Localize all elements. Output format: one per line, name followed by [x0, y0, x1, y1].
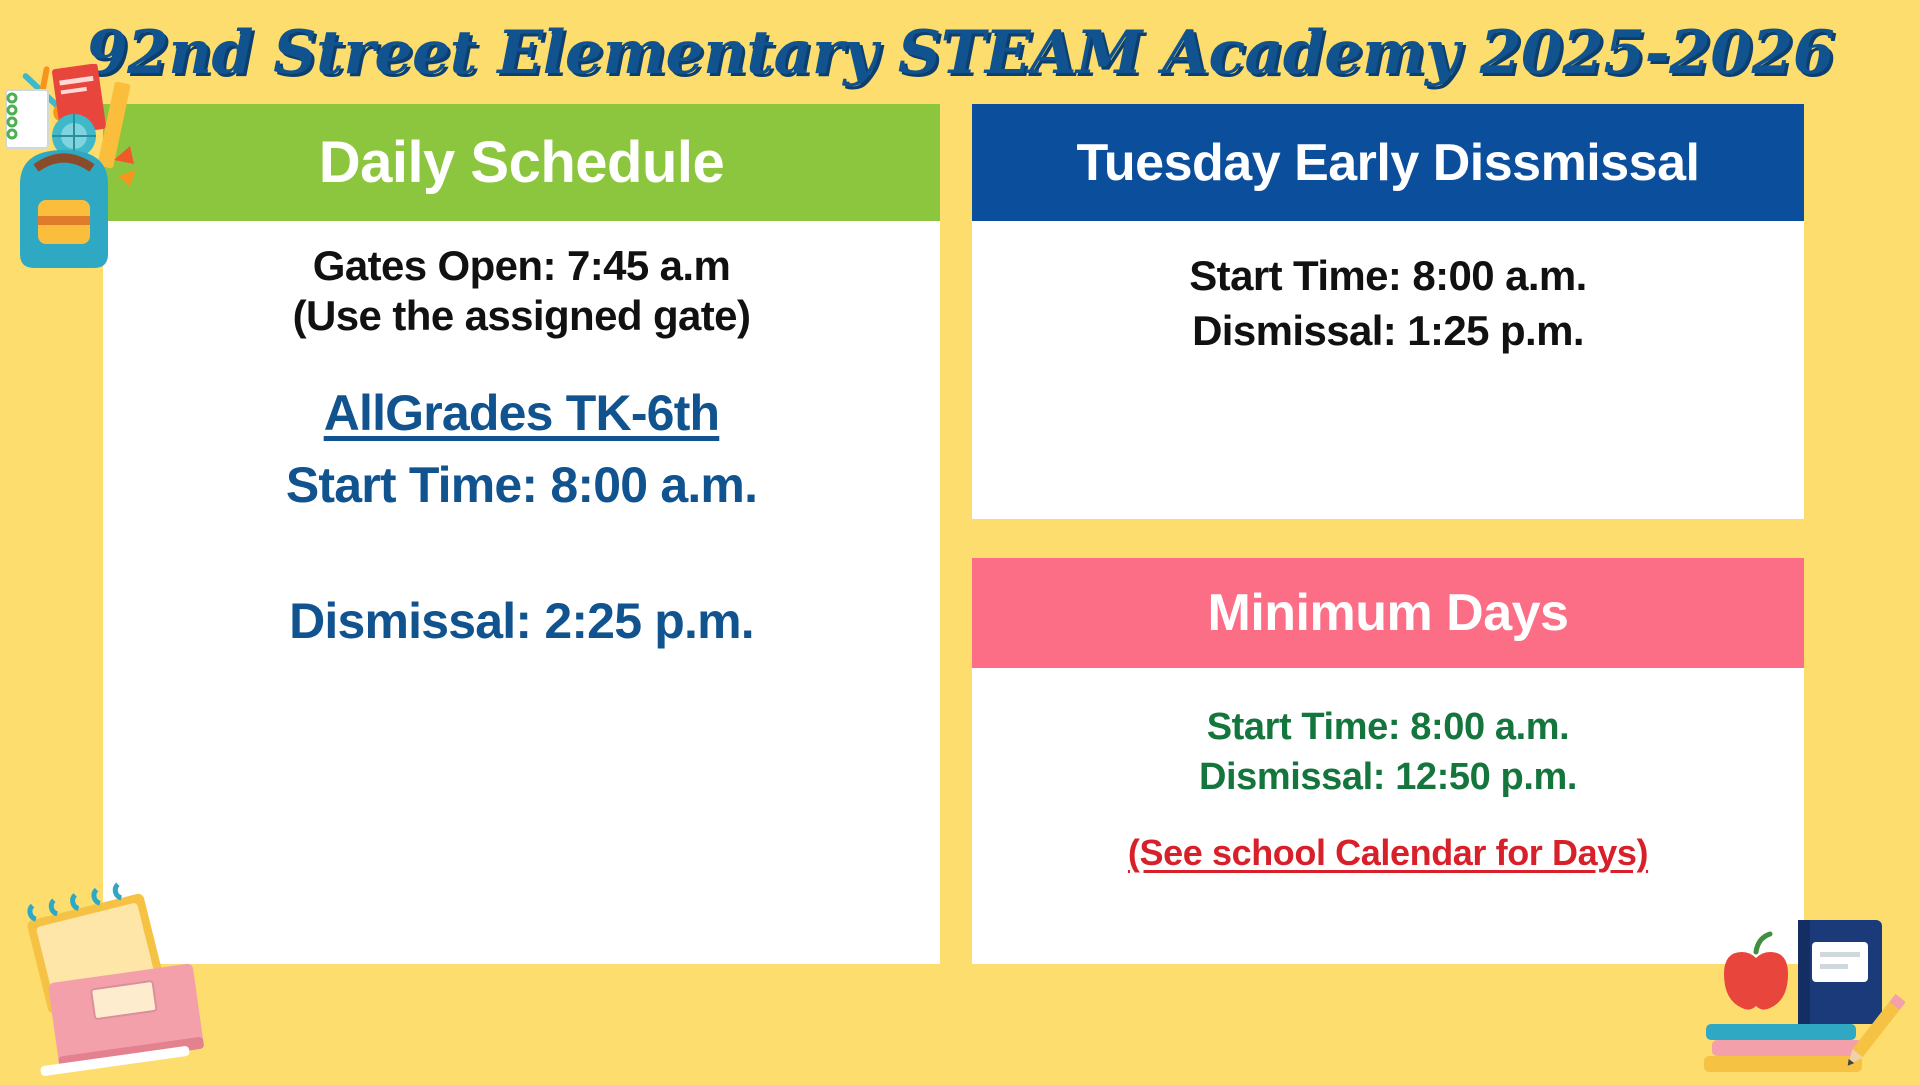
minimum-calendar-note: (See school Calendar for Days) — [972, 832, 1804, 874]
card-daily-schedule: Daily Schedule Gates Open: 7:45 a.m (Use… — [103, 104, 940, 964]
tuesday-start-time: Start Time: 8:00 a.m. — [972, 249, 1804, 304]
school-supplies-backpack-icon — [2, 64, 192, 284]
card-tuesday-early-dismissal-header: Tuesday Early Dissmissal — [972, 104, 1804, 221]
card-minimum-days-body: Start Time: 8:00 a.m. Dismissal: 12:50 p… — [972, 668, 1804, 874]
tuesday-dismissal-time: Dismissal: 1:25 p.m. — [972, 304, 1804, 359]
card-daily-schedule-header: Daily Schedule — [103, 104, 940, 221]
books-apple-icon — [1700, 912, 1905, 1080]
daily-gate-note: (Use the assigned gate) — [103, 291, 940, 341]
card-daily-schedule-body: Gates Open: 7:45 a.m (Use the assigned g… — [103, 221, 940, 650]
card-tuesday-early-dismissal: Tuesday Early Dissmissal Start Time: 8:0… — [972, 104, 1804, 519]
daily-gates-open: Gates Open: 7:45 a.m — [103, 241, 940, 291]
card-minimum-days: Minimum Days Start Time: 8:00 a.m. Dismi… — [972, 558, 1804, 964]
daily-grades-heading: AllGrades TK-6th — [103, 384, 940, 442]
minimum-dismissal-time: Dismissal: 12:50 p.m. — [972, 752, 1804, 802]
minimum-start-time: Start Time: 8:00 a.m. — [972, 702, 1804, 752]
flyer-canvas: 92nd Street Elementary STEAM Academy 202… — [0, 0, 1920, 1080]
card-minimum-days-header: Minimum Days — [972, 558, 1804, 668]
notebooks-icon — [22, 880, 232, 1080]
daily-dismissal-time: Dismissal: 2:25 p.m. — [103, 592, 940, 650]
page-title: 92nd Street Elementary STEAM Academy 202… — [0, 18, 1920, 88]
card-tuesday-early-dismissal-body: Start Time: 8:00 a.m. Dismissal: 1:25 p.… — [972, 221, 1804, 358]
daily-start-time: Start Time: 8:00 a.m. — [103, 456, 940, 514]
